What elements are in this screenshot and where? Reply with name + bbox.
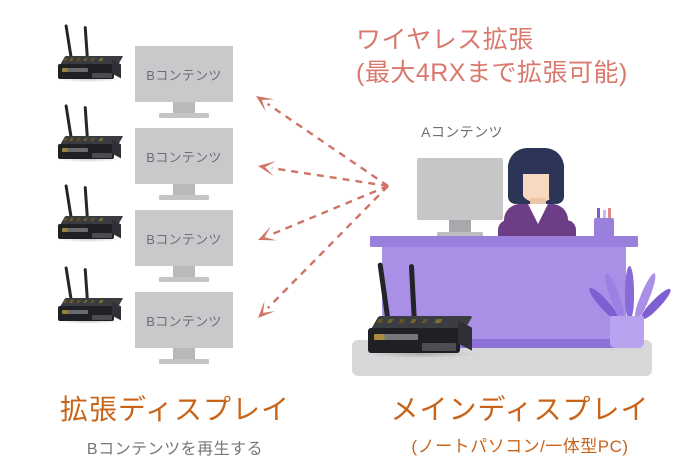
- diagram-canvas: ワイヤレス拡張 (最大4RXまで拡張可能) Bコンテンツ Bコンテンツ: [0, 0, 695, 476]
- monitor-neck: [173, 266, 195, 277]
- extended-display-subtitle: Bコンテンツを再生する: [10, 435, 340, 459]
- wireless-receiver-2: [56, 104, 128, 162]
- monitor-neck: [173, 348, 195, 359]
- antenna-icon: [64, 24, 73, 60]
- brand-logo: [62, 310, 88, 314]
- extended-monitor-2: Bコンテンツ: [135, 128, 233, 200]
- led-strip-icon: [63, 138, 109, 141]
- device-shadow: [56, 77, 122, 82]
- wireless-receiver-1: [56, 24, 128, 82]
- antenna-icon: [84, 106, 89, 140]
- main-display-subtitle: (ノートパソコン/一体型PC): [352, 432, 688, 457]
- monitor-base: [159, 195, 209, 200]
- monitor-base: [159, 359, 209, 364]
- brand-logo: [62, 228, 88, 232]
- antenna-icon: [84, 26, 89, 60]
- extended-monitor-1: Bコンテンツ: [135, 46, 233, 118]
- wireless-receiver-4: [56, 266, 128, 324]
- monitor-neck: [173, 102, 195, 113]
- led-strip-icon: [63, 218, 109, 221]
- device-shadow: [366, 350, 476, 358]
- cup-body: [594, 218, 614, 238]
- right-caption-block: メインディスプレイ (ノートパソコン/一体型PC): [352, 388, 688, 457]
- antenna-icon: [64, 184, 73, 220]
- headline-wireless-extension: ワイヤレス拡張 (最大4RXまで拡張可能): [356, 24, 676, 90]
- device-shadow: [56, 237, 122, 242]
- main-monitor-content-label: Aコンテンツ: [402, 122, 522, 142]
- extended-display-title: 拡張ディスプレイ: [10, 388, 340, 428]
- monitor-screen-label: Bコンテンツ: [135, 46, 233, 102]
- signal-arrow-line-1: [268, 104, 388, 186]
- plant-leaf: [625, 266, 634, 318]
- led-strip-icon: [63, 300, 109, 303]
- brand-logo: [62, 68, 88, 72]
- brand-logo: [62, 148, 88, 152]
- pen-cup: [594, 208, 614, 238]
- signal-arrow-head-3: [258, 227, 277, 241]
- antenna-icon: [64, 266, 73, 302]
- monitor-screen-label: Bコンテンツ: [135, 128, 233, 184]
- monitor-neck: [173, 184, 195, 195]
- person-illustration: [498, 146, 584, 246]
- plant-pot: [610, 316, 644, 348]
- antenna-icon: [84, 268, 89, 302]
- signal-arrow-head-4: [258, 301, 275, 318]
- hair-right: [549, 160, 564, 204]
- signal-arrow-line-3: [271, 186, 388, 235]
- desk-top-surface: [370, 236, 638, 247]
- led-strip-icon: [63, 58, 109, 61]
- led-strip-icon: [377, 319, 451, 323]
- hair-left: [508, 160, 523, 204]
- signal-arrow-head-1: [256, 96, 274, 112]
- monitor-screen-label: Bコンテンツ: [135, 292, 233, 348]
- left-caption-block: 拡張ディスプレイ Bコンテンツを再生する: [10, 388, 340, 459]
- device-shadow: [56, 157, 122, 162]
- monitor-base: [159, 277, 209, 282]
- antenna-icon: [64, 104, 73, 140]
- antenna-icon: [84, 186, 89, 220]
- wireless-transmitter: [366, 262, 484, 358]
- potted-plant: [588, 262, 660, 348]
- monitor-base: [159, 113, 209, 118]
- device-shadow: [56, 319, 122, 324]
- wireless-receiver-3: [56, 184, 128, 242]
- main-monitor-screen: [417, 158, 503, 220]
- device-side: [458, 320, 472, 350]
- monitor-screen-label: Bコンテンツ: [135, 210, 233, 266]
- main-display-title: メインディスプレイ: [352, 388, 688, 428]
- brand-logo: [374, 334, 418, 340]
- signal-arrow-head-2: [258, 161, 276, 176]
- signal-arrow-line-2: [272, 168, 388, 186]
- extended-monitor-3: Bコンテンツ: [135, 210, 233, 282]
- extended-monitor-4: Bコンテンツ: [135, 292, 233, 364]
